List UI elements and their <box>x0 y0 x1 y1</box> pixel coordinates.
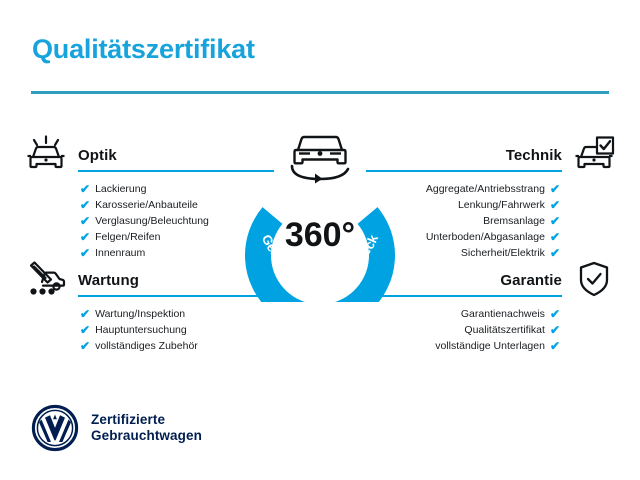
check-icon: ✔ <box>80 324 90 336</box>
list-item-label: Hauptuntersuchung <box>95 322 187 338</box>
section-wartung-list: ✔Wartung/Inspektion ✔Hauptuntersuchung ✔… <box>24 306 274 354</box>
list-item-label: Karosserie/Anbauteile <box>95 197 198 213</box>
check-icon: ✔ <box>80 183 90 195</box>
list-item-label: Unterboden/Abgasanlage <box>426 229 545 245</box>
shield-check-icon <box>572 259 616 299</box>
page-title: Qualitätszertifikat <box>32 34 255 65</box>
check-icon: ✔ <box>80 231 90 243</box>
list-item-label: Lenkung/Fahrwerk <box>458 197 545 213</box>
check-icon: ✔ <box>80 199 90 211</box>
check-icon: ✔ <box>80 308 90 320</box>
list-item: ✔vollständige Unterlagen <box>366 338 616 354</box>
list-item-label: Felgen/Reifen <box>95 229 160 245</box>
list-item-label: Qualitätszertifikat <box>464 322 545 338</box>
check-icon: ✔ <box>550 324 560 336</box>
check-icon: ✔ <box>80 215 90 227</box>
volkswagen-logo <box>31 404 79 452</box>
list-item: ✔Wartung/Inspektion <box>24 306 274 322</box>
car-front-shine-icon <box>24 134 68 174</box>
list-item-label: Lackierung <box>95 181 146 197</box>
list-item: ✔Hauptuntersuchung <box>24 322 274 338</box>
list-item-label: vollständiges Zubehör <box>95 338 198 354</box>
footer-brand-line1: Zertifizierte <box>91 412 202 428</box>
footer-brand: Zertifizierte Gebrauchtwagen <box>31 404 202 452</box>
list-item: ✔Qualitätszertifikat <box>366 322 616 338</box>
footer-brand-text: Zertifizierte Gebrauchtwagen <box>91 412 202 444</box>
section-garantie-list: ✔Garantienachweis ✔Qualitätszertifikat ✔… <box>366 306 616 354</box>
list-item: ✔vollständiges Zubehör <box>24 338 274 354</box>
title-divider <box>31 91 609 94</box>
check-icon: ✔ <box>80 340 90 352</box>
list-item: ✔Garantienachweis <box>366 306 616 322</box>
check-icon: ✔ <box>550 340 560 352</box>
list-item-label: Bremsanlage <box>483 213 545 229</box>
list-item-label: Aggregate/Antriebsstrang <box>426 181 545 197</box>
check-icon: ✔ <box>550 215 560 227</box>
car-side-wrench-icon <box>24 259 68 299</box>
list-item-label: Wartung/Inspektion <box>95 306 185 322</box>
footer-brand-line2: Gebrauchtwagen <box>91 428 202 444</box>
car-front-checkbox-icon <box>572 134 616 174</box>
360-gebrauchtwagen-check-badge: 360° Gebrauchtwagen-Check <box>236 120 404 302</box>
check-icon: ✔ <box>550 183 560 195</box>
qualitaetszertifikat-page: Qualitätszertifikat <box>0 0 640 480</box>
badge-center-label: 360° <box>285 216 355 254</box>
check-icon: ✔ <box>550 231 560 243</box>
list-item-label: Verglasung/Beleuchtung <box>95 213 209 229</box>
list-item-label: Garantienachweis <box>461 306 545 322</box>
check-icon: ✔ <box>550 308 560 320</box>
check-icon: ✔ <box>550 199 560 211</box>
list-item-label: vollständige Unterlagen <box>435 338 545 354</box>
